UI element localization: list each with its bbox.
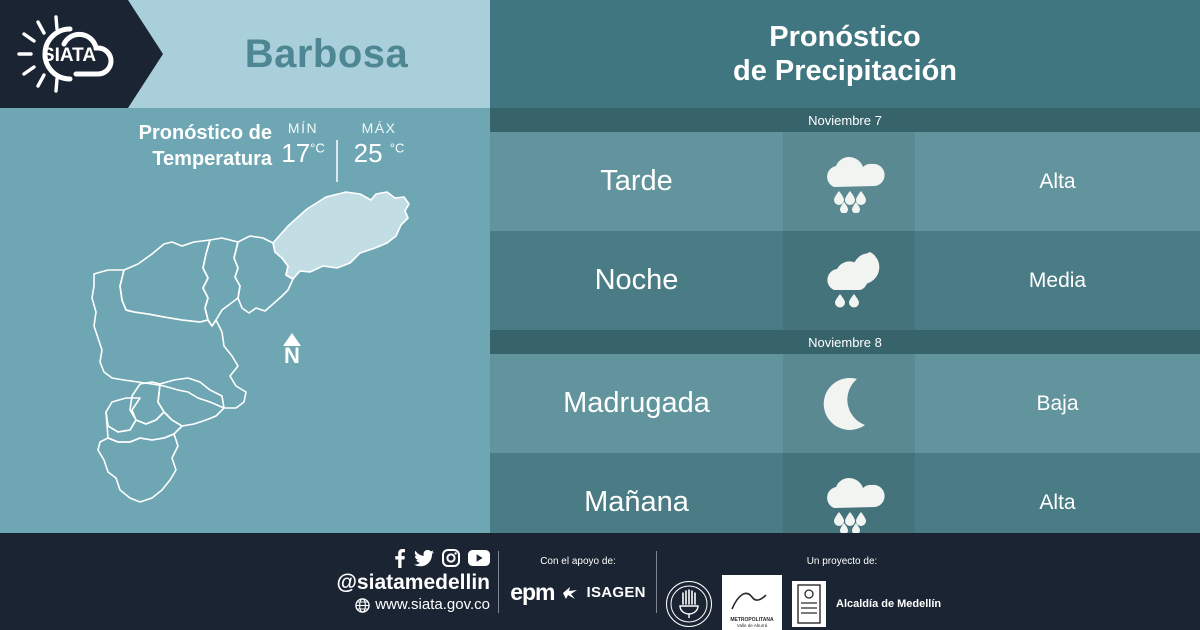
forecast-row: Noche Media	[490, 231, 1200, 330]
isagen-mark-icon	[562, 586, 578, 600]
temperature-min-unit: °C	[310, 140, 325, 155]
north-arrow: N	[277, 333, 307, 366]
svg-text:SIATA: SIATA	[42, 45, 96, 66]
epm-logo: epm	[510, 579, 554, 606]
left-header: SIATA Barbosa	[0, 0, 490, 108]
precipitation-title: Pronóstico de Precipitación	[490, 0, 1200, 108]
right-panel: Pronóstico de Precipitación Noviembre 7 …	[490, 0, 1200, 533]
temperature-divider	[336, 140, 338, 182]
temperature-title-line1: Pronóstico de	[139, 122, 272, 144]
globe-icon	[355, 598, 370, 613]
aburra-valley-map	[60, 180, 480, 530]
precipitation-title-line2: de Precipitación	[733, 54, 957, 88]
forecast-row: Madrugada Baja	[490, 354, 1200, 453]
website-text: www.siata.gov.co	[375, 595, 490, 615]
forecast-period: Tarde	[490, 132, 783, 231]
alcaldia-shield-icon	[792, 581, 826, 627]
footer-divider-1	[498, 551, 499, 613]
isagen-logo: ISAGEN	[586, 584, 645, 601]
instagram-icon[interactable]	[442, 549, 460, 567]
map-region-la-estrella	[106, 412, 182, 442]
social-icons	[300, 547, 490, 569]
project-block: Un proyecto de:	[666, 555, 966, 630]
map-region-medellin	[92, 270, 246, 408]
temperature-min-label: MÍN	[274, 120, 332, 136]
svg-text:Valle de Aburrá: Valle de Aburrá	[737, 623, 768, 628]
left-panel: SIATA Barbosa Pronóstico de Temperatura …	[0, 0, 490, 533]
youtube-icon[interactable]	[468, 550, 490, 566]
forecast-row: Tarde Alta	[490, 132, 1200, 231]
temperature-min-value: 17	[281, 138, 310, 168]
temperature-max-value: 25	[354, 138, 383, 168]
logo-chevron-banner: SIATA	[0, 0, 163, 108]
temperature-min-value-wrap: 17°C	[274, 138, 332, 169]
map-region-copacabana	[203, 238, 240, 326]
north-letter: N	[277, 346, 307, 366]
date-band-day1: Noviembre 7	[490, 108, 1200, 132]
forecast-period: Noche	[490, 231, 783, 330]
udea-seal-icon	[666, 581, 712, 627]
temperature-max-value-wrap: 25 °C	[344, 138, 414, 169]
footer-divider-2	[656, 551, 657, 613]
project-logos: METROPOLITANA Valle de Aburrá Alcaldía d…	[666, 575, 966, 630]
temperature-max-label: MÁX	[344, 120, 414, 136]
project-caption: Un proyecto de:	[722, 555, 962, 569]
map-region-barbosa	[273, 192, 409, 279]
forecast-level: Alta	[915, 132, 1200, 231]
support-logos: epm ISAGEN	[508, 579, 648, 606]
map-region-sabaneta	[106, 398, 140, 432]
twitter-icon[interactable]	[414, 550, 434, 567]
infographic-root: SIATA Barbosa Pronóstico de Temperatura …	[0, 0, 1200, 630]
map-region-envigado	[158, 378, 224, 426]
website-line[interactable]: www.siata.gov.co	[300, 595, 490, 615]
date-band-day2: Noviembre 8	[490, 330, 1200, 354]
area-metropolitana-icon: METROPOLITANA Valle de Aburrá	[722, 575, 782, 630]
alcaldia-label: Alcaldía de Medellín	[836, 598, 941, 610]
temperature-min: MÍN 17°C	[274, 120, 332, 169]
precipitation-title-line1: Pronóstico	[769, 20, 920, 54]
moon-rain-cloud-icon	[783, 231, 915, 330]
forecast-level: Media	[915, 231, 1200, 330]
temperature-max-unit: °C	[390, 140, 405, 155]
temperature-block: Pronóstico de Temperatura MÍN 17°C MÁX 2…	[0, 118, 490, 188]
siata-logo-icon: SIATA	[16, 14, 128, 94]
city-title: Barbosa	[163, 0, 490, 108]
temperature-title-line2: Temperatura	[152, 148, 272, 170]
forecast-period: Madrugada	[490, 354, 783, 453]
temperature-title: Pronóstico de Temperatura	[62, 120, 272, 172]
moon-icon	[783, 354, 915, 453]
social-handle[interactable]: @siatamedellin	[300, 570, 490, 595]
forecast-level: Baja	[915, 354, 1200, 453]
support-block: Con el apoyo de: epm ISAGEN	[508, 555, 648, 606]
facebook-icon[interactable]	[393, 549, 406, 568]
map-region-caldas	[98, 434, 178, 502]
support-caption: Con el apoyo de:	[508, 555, 648, 569]
rain-cloud-icon	[783, 132, 915, 231]
map-region-bello	[120, 240, 210, 322]
social-block: @siatamedellin www.siata.gov.co	[300, 547, 490, 615]
footer: @siatamedellin www.siata.gov.co Con el a…	[0, 533, 1200, 630]
temperature-max: MÁX 25 °C	[344, 120, 414, 169]
